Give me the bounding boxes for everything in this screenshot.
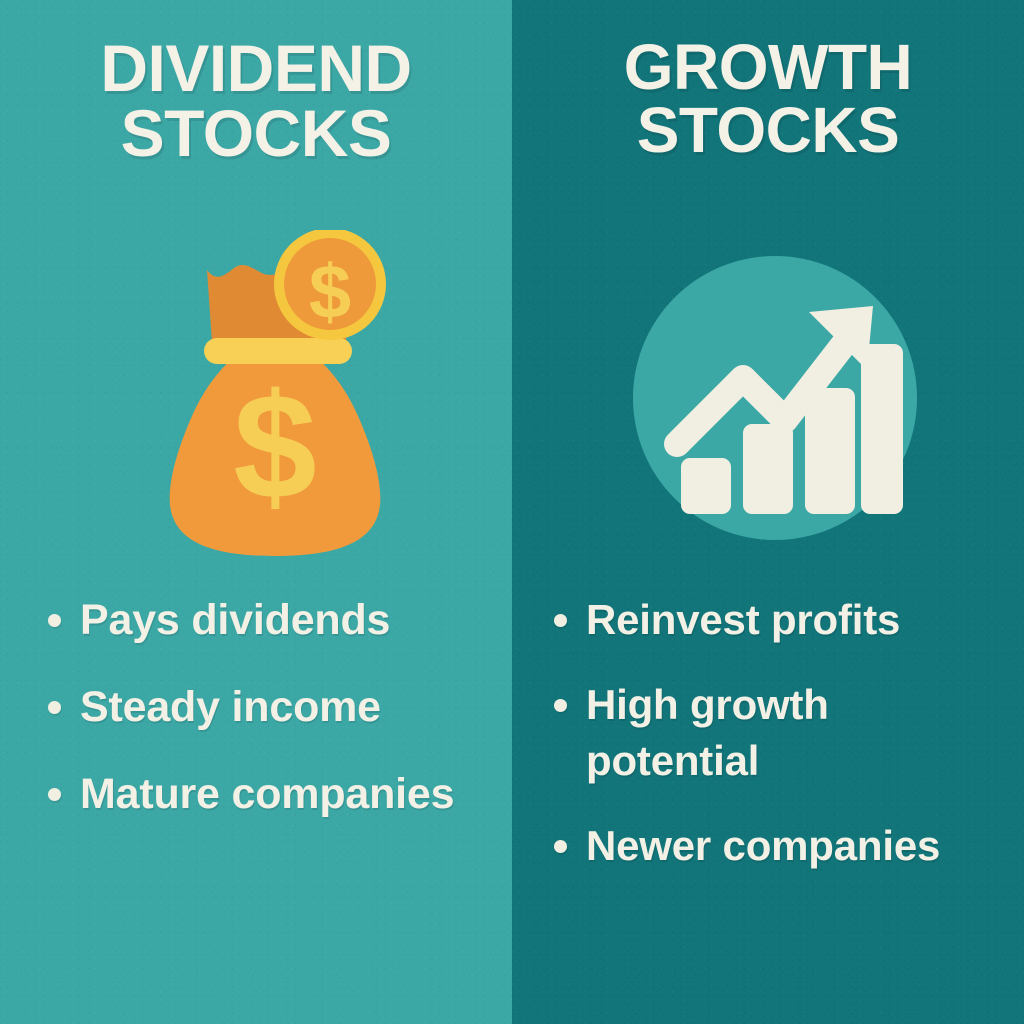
left-panel-dividend-stocks: DIVIDEND STOCKS $ $ Pays dividends S (0, 0, 512, 1024)
bag-tie-band (204, 338, 352, 364)
coin-dollar-symbol: $ (309, 250, 351, 335)
right-bullet-list: Reinvest profits High growth potential N… (554, 592, 1010, 904)
list-item: Newer companies (554, 818, 1010, 873)
list-item: Steady income (48, 679, 494, 736)
bullet-dot-icon (554, 840, 567, 853)
chart-bar-2 (743, 424, 793, 514)
bullet-dot-icon (554, 699, 567, 712)
right-panel-title: GROWTH STOCKS (512, 36, 1024, 161)
bullet-dot-icon (48, 614, 61, 627)
list-item: Pays dividends (48, 592, 494, 649)
bullet-dot-icon (554, 614, 567, 627)
bullet-label: High growth potential (586, 677, 1010, 788)
chart-bar-1 (681, 458, 731, 514)
bullet-label: Reinvest profits (586, 592, 900, 647)
bag-dollar-symbol: $ (233, 362, 316, 530)
left-panel-title: DIVIDEND STOCKS (0, 36, 512, 165)
bullet-label: Newer companies (586, 818, 940, 873)
list-item: Mature companies (48, 766, 494, 823)
growth-chart-arrow-icon (633, 256, 917, 540)
bullet-label: Steady income (80, 679, 381, 736)
left-bullet-list: Pays dividends Steady income Mature comp… (48, 592, 494, 852)
bullet-label: Pays dividends (80, 592, 390, 649)
money-bag-with-coin-icon: $ $ (150, 230, 400, 570)
chart-bar-3 (805, 388, 855, 514)
infographic-canvas: DIVIDEND STOCKS $ $ Pays dividends S (0, 0, 1024, 1024)
list-item: Reinvest profits (554, 592, 1010, 647)
list-item: High growth potential (554, 677, 1010, 788)
bullet-label: Mature companies (80, 766, 454, 823)
bullet-dot-icon (48, 701, 61, 714)
chart-bar-4 (861, 344, 903, 514)
bullet-dot-icon (48, 788, 61, 801)
